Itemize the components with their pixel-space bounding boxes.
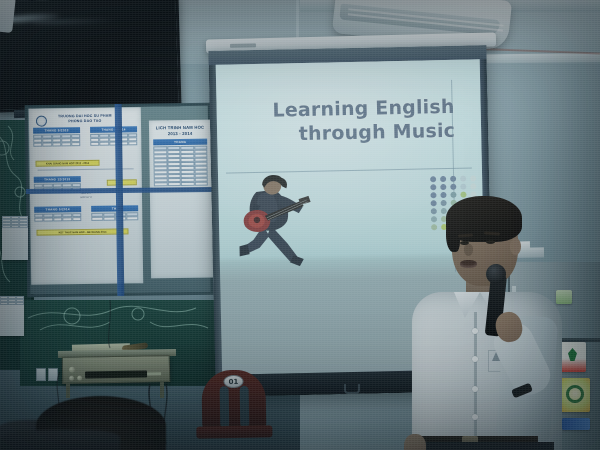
presenter-shirt-button [472,328,478,334]
amplifier-knob[interactable] [69,367,75,373]
poster-table-band: THANG 9/2013 [33,127,80,134]
screen-brand-logo [230,43,256,48]
amplifier-cassette-slot [85,370,147,378]
poster-academic-calendar[interactable]: TRUONG DAI HOC SU PHAM PHONG DAO TAO THA… [29,107,143,285]
presenter-left-hand [404,434,426,450]
poster-table [91,212,138,221]
slide-title-line-2: through Music [255,120,455,148]
presenter-shirt-button [472,414,478,420]
poster-table-band: THANG 12/2013 [34,176,81,183]
classroom-chair[interactable]: 01 [195,369,272,450]
slide-title: Learning English through Music [254,96,455,148]
poster-table [90,133,137,146]
chair-back-slot [220,386,230,428]
poster-table [33,134,80,147]
slide-dot [450,184,456,190]
chair-seat [196,425,272,438]
poster-highlight-note: KET THUC NAM HOC - BE GIANG 2014 [36,229,128,236]
amplifier-display [147,372,161,375]
presenter-trousers [418,442,554,450]
slide-horizontal-rule [226,167,472,173]
screen-pull-handle[interactable] [344,384,360,394]
university-seal-icon [36,116,47,127]
student-foreground-shoulders [0,430,120,450]
slide-dot [460,176,466,182]
board-paper-note [2,216,28,260]
poster-table-band: THI [91,205,138,212]
shelf-bracket-right [160,382,164,398]
shelf-bracket-left [66,382,70,398]
wall-tv[interactable] [0,0,182,113]
amplifier-knob[interactable] [77,376,82,381]
poster-highlight-note: KHAI GIANG NAM HOC 2013 - 2014 [35,159,99,166]
slide-dot [460,184,466,190]
poster-schedule-heading: LICH TRINH NAM HOC 2013 - 2014 [149,120,211,137]
slide-dot [470,175,476,181]
presenter-shirt-button [472,356,478,362]
poster-schedule-heading-line-2: 2013 - 2014 [149,130,211,137]
poster-table-band: THANG 5/2014 [34,206,81,213]
presenter-nose [464,244,473,256]
air-conditioner-vent [339,3,500,36]
amplifier-knob[interactable] [69,376,74,381]
slide-dot [440,176,446,182]
board-paper-note [0,296,24,336]
presenter-mouth [460,260,477,268]
presenter [396,196,572,450]
wall-socket[interactable] [36,368,46,381]
presenter-shirt-button [472,386,478,392]
presenter-ear [510,238,521,255]
slide-guitarist-image [230,173,324,271]
slide-dot [430,184,436,190]
poster-small-note: HOC KY II [30,195,142,200]
photo-scene: TRUONG DAI HOC SU PHAM PHONG DAO TAO THA… [0,0,600,450]
poster-schedule-band: THANG [153,139,207,146]
audio-amplifier[interactable] [62,355,170,384]
wall-socket[interactable] [48,368,58,381]
poster-table [34,213,81,222]
slide-dot [440,184,446,190]
slide-dot [450,176,456,182]
presenter-eye-right [486,240,495,244]
poster-schedule-table [153,146,208,187]
poster-year-schedule[interactable]: LICH TRINH NAM HOC 2013 - 2014 THANG [149,120,213,279]
chair-back-slot [240,386,250,428]
slide-dot [430,176,436,182]
slide-dot [470,183,476,189]
poster-table-band: THANG 4/2014 [90,126,137,133]
